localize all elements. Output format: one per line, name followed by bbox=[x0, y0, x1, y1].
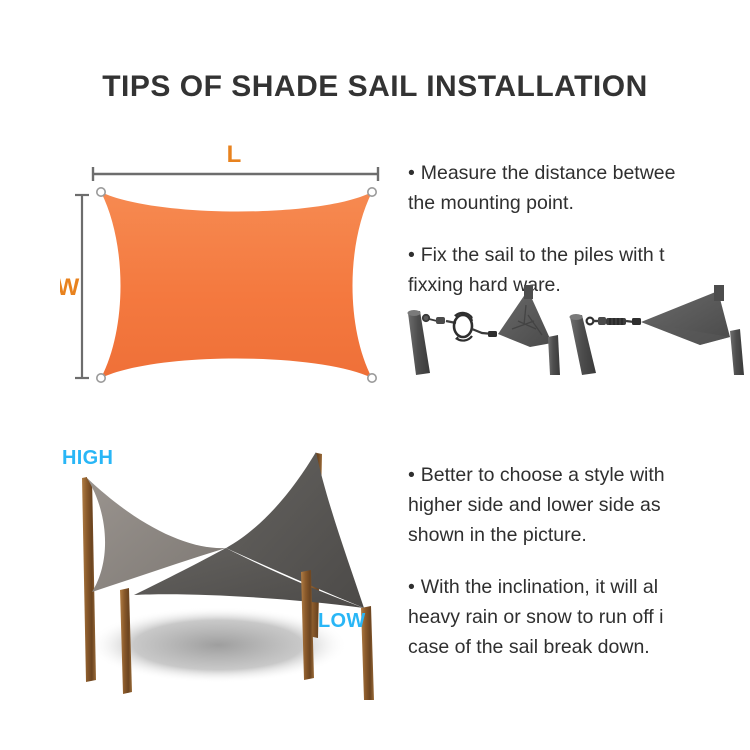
bullet-icon: • bbox=[408, 464, 415, 486]
perspective-sail-diagram bbox=[30, 430, 410, 700]
tip-line: case of the sail break down. bbox=[408, 632, 750, 662]
page-title: TIPS OF SHADE SAIL INSTALLATION bbox=[0, 70, 750, 104]
hardware-right-illustration bbox=[570, 285, 745, 375]
tip-line: • Measure the distance betwee bbox=[408, 158, 750, 188]
rectangular-sail-diagram: L W bbox=[60, 140, 400, 400]
tip-text: Better to choose a style with bbox=[421, 464, 665, 486]
tip-line: higher side and lower side as bbox=[408, 490, 750, 520]
bullet-icon: • bbox=[408, 162, 415, 184]
bullet-icon: • bbox=[408, 576, 415, 598]
hardware-left-illustration bbox=[408, 285, 561, 375]
eye-bolt-left bbox=[423, 315, 437, 321]
post-left-upper bbox=[524, 285, 533, 299]
tip-line: • Fix the sail to the piles with t bbox=[408, 240, 750, 270]
tip-line: shown in the picture. bbox=[408, 520, 750, 550]
label-low: LOW bbox=[318, 610, 366, 633]
tip-text: Fix the sail to the piles with t bbox=[421, 244, 665, 266]
tip-text: Measure the distance betwee bbox=[421, 162, 676, 184]
tip-paragraph: • With the inclination, it will al heavy… bbox=[408, 572, 750, 662]
hardware-illustrations bbox=[400, 285, 750, 375]
tip-text: With the inclination, it will al bbox=[421, 576, 658, 598]
turnbuckle-left bbox=[446, 313, 473, 341]
tip-line: • Better to choose a style with bbox=[408, 460, 750, 490]
shackle-left bbox=[436, 317, 445, 324]
cable-clamp-left bbox=[488, 331, 497, 337]
tip-paragraph: • Measure the distance betwee the mounti… bbox=[408, 158, 750, 218]
post-right-upper bbox=[714, 285, 724, 301]
width-label: W bbox=[60, 274, 80, 301]
post-back-left bbox=[82, 476, 96, 682]
tip-line: the mounting point. bbox=[408, 188, 750, 218]
turnbuckle-right bbox=[606, 318, 641, 325]
tip-line: • With the inclination, it will al bbox=[408, 572, 750, 602]
tip-line: heavy rain or snow to run off i bbox=[408, 602, 750, 632]
post-front-left bbox=[120, 588, 132, 694]
tip-paragraph: • Better to choose a style with higher s… bbox=[408, 460, 750, 550]
post-left-lower bbox=[548, 335, 560, 375]
length-label: L bbox=[227, 141, 242, 168]
orange-shade-sail-shape bbox=[101, 192, 372, 378]
length-dimension-line bbox=[93, 167, 378, 181]
label-high: HIGH bbox=[62, 447, 113, 470]
carabiner-right bbox=[587, 317, 606, 325]
tips-bottom-text: • Better to choose a style with higher s… bbox=[408, 460, 750, 684]
bullet-icon: • bbox=[408, 244, 415, 266]
post-right-lower bbox=[730, 329, 744, 375]
infographic-page: TIPS OF SHADE SAIL INSTALLATION bbox=[0, 0, 750, 750]
